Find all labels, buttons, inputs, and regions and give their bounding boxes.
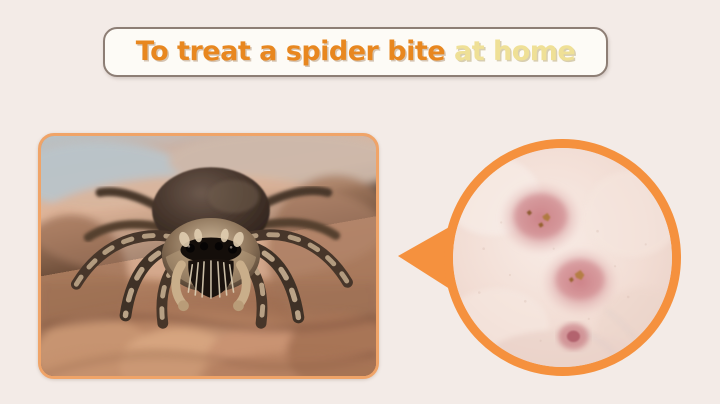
spider-photo (38, 133, 379, 379)
title-segment-secondary-text: at home (454, 36, 575, 67)
page-title: To treat a spider bite at home (136, 38, 575, 67)
bite-magnifier-circle (444, 139, 681, 376)
title-segment-secondary: at home (445, 36, 575, 67)
slide-canvas: To treat a spider bite at home (0, 0, 720, 404)
spider-photo-illustration (41, 136, 376, 376)
title-segment-primary: To treat a spider bite (136, 36, 445, 67)
title-box: To treat a spider bite at home (103, 27, 608, 77)
bite-skin-illustration (453, 148, 672, 367)
